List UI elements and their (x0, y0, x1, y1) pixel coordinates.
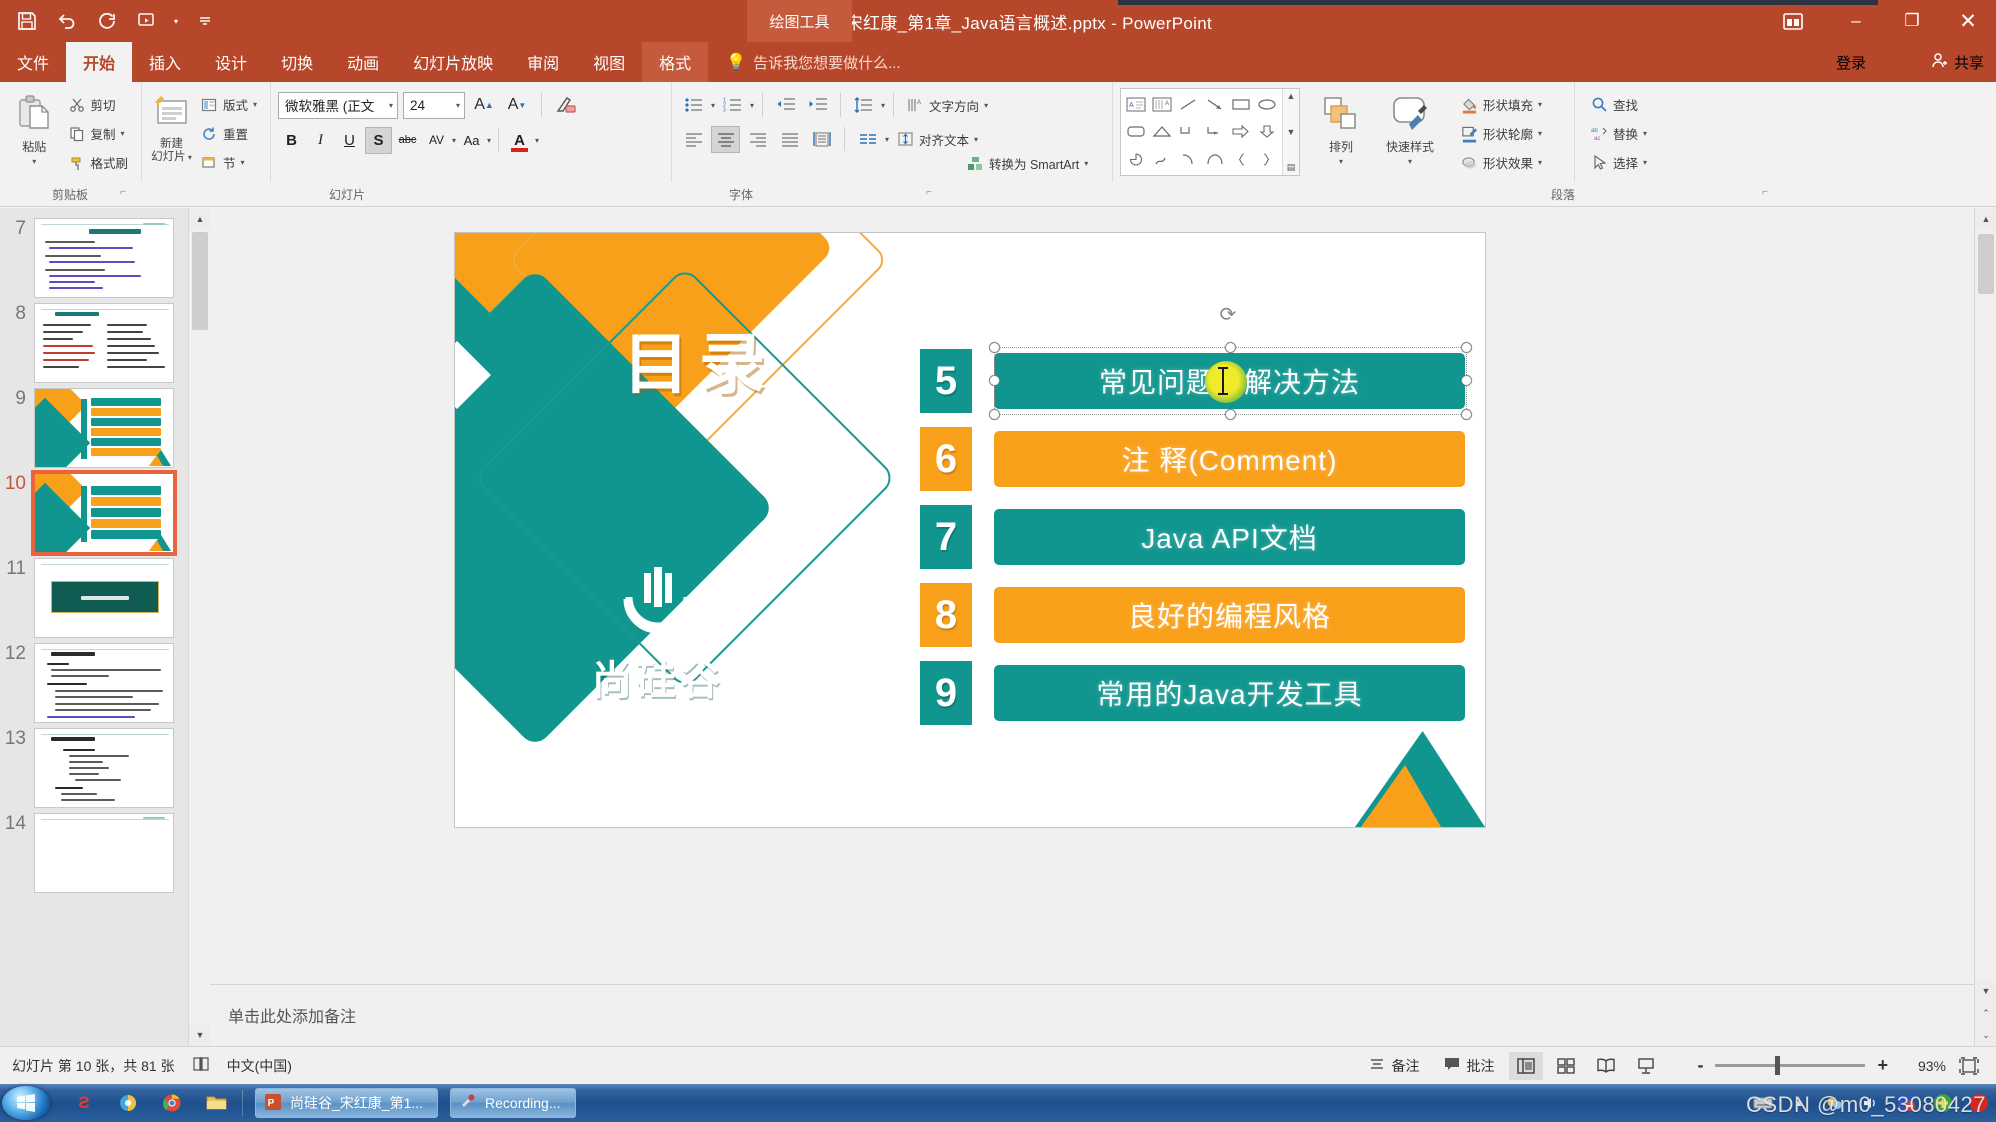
person-add-icon (1931, 52, 1948, 73)
smartart-caret-icon[interactable]: ▾ (1084, 159, 1088, 168)
redo-icon[interactable] (94, 8, 120, 34)
thumbnail-item-14[interactable]: 14 (0, 813, 188, 893)
format-painter-label: 格式刷 (90, 153, 128, 172)
new-slide-icon (152, 92, 190, 136)
shape-fill-icon (1461, 96, 1478, 113)
section-label: 节 (223, 153, 236, 172)
notes-placeholder[interactable]: 单击此处添加备注 (228, 1003, 356, 1027)
thumbnail-scroll-up-button[interactable]: ▲ (189, 208, 210, 230)
thumbnail-preview[interactable] (34, 303, 174, 383)
svg-text:ab: ab (1591, 128, 1598, 134)
minimize-button[interactable]: – (1828, 0, 1884, 42)
brand-logo-block: 尚硅谷 (573, 563, 743, 706)
record-stop-icon[interactable] (1968, 1092, 1990, 1114)
resize-handle-mr[interactable] (1461, 375, 1472, 386)
slide-canvas[interactable]: 目录 尚硅谷 5 (455, 233, 1485, 827)
font-name-input[interactable]: 微软雅黑 (正文 ▾ (278, 92, 398, 119)
line-spacing-icon[interactable] (849, 92, 878, 119)
tab-review[interactable]: 审阅 (510, 42, 576, 82)
section-caret-icon[interactable]: ▾ (240, 158, 244, 167)
select-button[interactable]: 选择 ▾ (1586, 149, 1652, 176)
lightbulb-icon: 💡 (726, 52, 746, 72)
resize-handle-ml[interactable] (989, 375, 1000, 386)
shape-scribble-icon[interactable] (1149, 146, 1175, 173)
window-controls[interactable]: – ❐ ✕ (1758, 0, 1996, 42)
slide-title: 目录 (623, 311, 775, 407)
shape-fill-label: 形状填充 (1483, 95, 1533, 114)
text-direction-button[interactable]: A 文字方向 ▾ (902, 92, 993, 119)
resize-handle-bc[interactable] (1225, 409, 1236, 420)
scroll-up-button[interactable]: ▲ (1975, 208, 1996, 230)
shape-elbow-arrow-icon[interactable] (1201, 118, 1227, 145)
tab-insert[interactable]: 插入 (132, 42, 198, 82)
shape-pie-icon[interactable] (1123, 146, 1149, 173)
thumbnail-preview-selected[interactable] (34, 473, 174, 553)
text-direction-caret-icon[interactable]: ▾ (984, 101, 988, 110)
shape-vertical-textbox-icon[interactable]: A (1149, 91, 1175, 118)
powerpoint-icon: P (264, 1093, 282, 1114)
underline-button[interactable]: U (336, 127, 363, 154)
customize-qat-icon[interactable] (192, 8, 218, 34)
save-icon[interactable] (14, 8, 40, 34)
fit-to-window-icon[interactable] (1952, 1052, 1986, 1080)
quick-styles-label: 快速样式 (1386, 138, 1434, 155)
shapes-more-icon[interactable]: ▤ (1287, 162, 1296, 173)
italic-button[interactable]: I (307, 127, 334, 154)
format-painter-icon (68, 154, 85, 171)
toc-bar[interactable]: 常用的Java开发工具 (994, 665, 1465, 721)
arrange-caret-icon[interactable]: ▾ (1339, 157, 1343, 166)
taskbar-item-powerpoint[interactable]: P 尚硅谷_宋红康_第1... (255, 1088, 438, 1118)
layout-button[interactable]: 版式 ▾ (196, 91, 262, 118)
replace-icon: abac (1591, 125, 1608, 142)
align-text-label: 对齐文本 (919, 130, 969, 149)
system-tray[interactable]: ▲ (1752, 1092, 1990, 1114)
distribute-columns-icon[interactable] (807, 126, 836, 153)
columns-caret-icon[interactable]: ▾ (885, 135, 889, 144)
status-bar[interactable]: 幻灯片 第 10 张，共 81 张 中文(中国) 备注 批注 (0, 1046, 1996, 1084)
slide-count-label: 幻灯片 第 10 张，共 81 张 (12, 1056, 175, 1076)
slide-edit-area[interactable]: 目录 尚硅谷 5 (210, 208, 1974, 1046)
recorder-icon (459, 1093, 477, 1114)
change-case-caret-icon[interactable]: ▾ (487, 136, 491, 145)
shape-right-arrow-icon[interactable] (1228, 118, 1254, 145)
arrange-icon (1321, 92, 1361, 136)
thumbnail-scroll-thumb[interactable] (192, 232, 208, 330)
notes-pane[interactable]: 单击此处添加备注 (210, 984, 1974, 1046)
ribbon-group-font: 微软雅黑 (正文 ▾ 24 ▾ A▲ A▼ B I U S abc (270, 82, 670, 182)
layout-icon (201, 96, 218, 113)
cursor-select-icon (1591, 154, 1608, 171)
scroll-down-button[interactable]: ▼ (1975, 980, 1996, 1002)
thumbnail-number: 8 (0, 303, 34, 325)
thumbnail-preview[interactable] (34, 218, 174, 298)
undo-icon[interactable] (54, 8, 80, 34)
font-size-caret-icon[interactable]: ▾ (456, 101, 460, 110)
svg-text:3: 3 (723, 108, 726, 114)
ribbon-display-options-icon[interactable] (1758, 0, 1828, 42)
quick-styles-caret-icon[interactable]: ▾ (1408, 157, 1412, 166)
thumbnail-item-9[interactable]: 9 (0, 388, 188, 468)
shapes-scroll-down-icon[interactable]: ▼ (1287, 127, 1296, 137)
quick-styles-icon (1388, 92, 1432, 136)
paragraph-dialog-launcher[interactable]: ⌐ (1762, 187, 1768, 198)
arrange-button[interactable]: 排列 ▾ (1310, 88, 1372, 166)
paste-button[interactable]: 粘贴 ▾ (7, 88, 61, 166)
toc-row-9[interactable]: 9 常用的Java开发工具 (920, 657, 1465, 729)
thumbnail-item-7[interactable]: 7 (0, 218, 188, 298)
next-slide-button[interactable]: ⌄ (1975, 1024, 1996, 1046)
ribbon-group-clipboard: 粘贴 ▾ 剪切 复制 ▾ (0, 82, 140, 182)
tab-file[interactable]: 文件 (0, 42, 66, 82)
tab-view[interactable]: 视图 (576, 42, 642, 82)
copy-caret-icon[interactable]: ▾ (121, 129, 125, 138)
quick-launch-bar[interactable]: Ƨ (50, 1091, 228, 1115)
spellcheck-icon[interactable] (191, 1056, 211, 1075)
increase-font-size-button[interactable]: A▲ (470, 92, 498, 119)
toc-bar[interactable]: Java API文档 (994, 509, 1465, 565)
reading-view-icon[interactable] (1589, 1052, 1623, 1080)
shapes-scroll-up-icon[interactable]: ▲ (1287, 91, 1296, 101)
zoom-slider[interactable] (1715, 1064, 1865, 1067)
tab-home[interactable]: 开始 (66, 42, 132, 82)
start-orb-icon[interactable] (2, 1086, 50, 1120)
shape-effects-icon (1461, 154, 1478, 171)
text-direction-label: 文字方向 (929, 96, 979, 115)
thumbnail-number: 7 (0, 218, 34, 240)
keyboard-icon[interactable] (1752, 1092, 1774, 1114)
search-icon (1591, 96, 1608, 113)
text-direction-icon: A (907, 97, 924, 114)
toc-row-5[interactable]: 5 常见问题及解决方法 ⟳ (920, 345, 1465, 417)
ribbon-group-paragraph: ▾ 123 ▾ ▾ (671, 82, 1111, 182)
shape-effects-caret-icon[interactable]: ▾ (1538, 158, 1542, 167)
slide-vertical-scrollbar[interactable]: ▲ ▼ ⌃ ⌄ (1974, 208, 1996, 1046)
svg-text:A: A (917, 100, 921, 106)
reset-label: 重置 (223, 124, 248, 143)
thumbnail-preview[interactable] (34, 643, 174, 723)
volume-icon[interactable] (1860, 1092, 1882, 1114)
replace-button[interactable]: abac 替换 ▾ (1586, 120, 1652, 147)
app1-icon[interactable] (1896, 1092, 1918, 1114)
shangguigu-logo-icon (573, 563, 743, 644)
group-label-paragraph: 段落 (1343, 182, 1783, 207)
shape-curve-icon[interactable] (1175, 146, 1201, 173)
svg-text:P: P (268, 1098, 275, 1109)
shape-rounded-rectangle-icon[interactable] (1123, 118, 1149, 145)
qat-dropdown-caret[interactable]: ▾ (174, 17, 178, 26)
font-color-button[interactable]: A (506, 127, 533, 154)
toc-row-7[interactable]: 7 Java API文档 (920, 501, 1465, 573)
group-label-clipboard: 剪贴板 (0, 182, 140, 207)
tab-design[interactable]: 设计 (198, 42, 264, 82)
shape-arc-icon[interactable] (1201, 146, 1227, 173)
quick-access-toolbar[interactable]: ▾ (14, 0, 218, 42)
align-left-icon[interactable] (679, 126, 708, 153)
thumbnail-number: 14 (0, 813, 34, 835)
taskbar-item-label: Recording... (485, 1095, 560, 1111)
shape-fill-button[interactable]: 形状填充 ▾ (1456, 91, 1547, 118)
text-cursor-icon (1222, 367, 1224, 395)
slideshow-icon[interactable] (1629, 1052, 1663, 1080)
arrange-label: 排列 (1329, 138, 1353, 155)
share-label: 共享 (1954, 52, 1984, 73)
taskbar[interactable]: Ƨ P 尚硅谷_宋红康_第1... Recording... (0, 1084, 1996, 1122)
font-name-value: 微软雅黑 (正文 (285, 95, 374, 115)
thumbnail-preview[interactable] (34, 728, 174, 808)
resize-handle-bl[interactable] (989, 409, 1000, 420)
toc-row-6[interactable]: 6 注 释(Comment) (920, 423, 1465, 495)
align-text-caret-icon[interactable]: ▾ (974, 135, 978, 144)
tell-me-search[interactable]: 💡 告诉我您想要做什么... (708, 42, 900, 82)
font-dialog-launcher[interactable]: ⌐ (926, 187, 932, 198)
shape-arrow-icon[interactable] (1201, 91, 1227, 118)
toc-row-8[interactable]: 8 良好的编程风格 (920, 579, 1465, 651)
shape-oval-icon[interactable] (1254, 91, 1280, 118)
change-case-button[interactable]: Aa (458, 127, 485, 154)
browser-icon[interactable] (116, 1091, 140, 1115)
thumbnail-scroll-down-button[interactable]: ▼ (189, 1024, 210, 1046)
show-hidden-icons-icon[interactable]: ▲ (1788, 1092, 1810, 1114)
resize-handle-tl[interactable] (989, 342, 1000, 353)
font-color-caret-icon[interactable]: ▾ (535, 136, 539, 145)
format-painter-button[interactable]: 格式刷 (63, 149, 133, 176)
chrome-icon[interactable] (160, 1091, 184, 1115)
align-right-icon[interactable] (743, 126, 772, 153)
notes-label: 备注 (1391, 1056, 1419, 1076)
section-icon (201, 154, 218, 171)
shape-outline-icon (1461, 125, 1478, 142)
shape-outline-button[interactable]: 形状轮廓 ▾ (1456, 120, 1547, 147)
contextual-tab-group-label: 绘图工具 (747, 0, 852, 42)
quick-styles-button[interactable]: 快速样式 ▾ (1372, 88, 1448, 166)
copy-label: 复制 (90, 124, 115, 143)
toc-number: 6 (920, 427, 972, 491)
paste-icon (16, 92, 52, 136)
toc-number: 8 (920, 583, 972, 647)
zoom-in-button[interactable]: + (1871, 1055, 1894, 1076)
shape-outline-label: 形状轮廓 (1483, 124, 1533, 143)
shapes-gallery[interactable]: A A (1120, 88, 1300, 176)
resize-handle-br[interactable] (1461, 409, 1472, 420)
thumbnail-item-10[interactable]: 10 (0, 473, 188, 553)
font-size-input[interactable]: 24 ▾ (403, 92, 465, 119)
shapes-gallery-scrollbar[interactable]: ▲ ▼ ▤ (1282, 89, 1299, 175)
replace-caret-icon[interactable]: ▾ (1643, 129, 1647, 138)
shape-rectangle-icon[interactable] (1228, 91, 1254, 118)
smartart-icon (967, 155, 984, 172)
find-button[interactable]: 查找 (1586, 91, 1652, 118)
bold-button[interactable]: B (278, 127, 305, 154)
align-text-icon (897, 131, 914, 148)
convert-smartart-label: 转换为 SmartArt (989, 154, 1079, 173)
window-title: 尚硅谷_宋红康_第1章_Java语言概述.pptx - PowerPoint (0, 0, 1996, 42)
ribbon-group-editing: 查找 abac 替换 ▾ 选择 ▾ 编辑 (1574, 82, 1754, 182)
cut-button[interactable]: 剪切 (63, 91, 133, 118)
thumbnail-preview[interactable] (34, 813, 174, 893)
numbering-icon[interactable]: 123 (718, 92, 747, 119)
replace-label: 替换 (1613, 124, 1638, 143)
thumbnail-item-13[interactable]: 13 (0, 728, 188, 808)
ribbon-tabs[interactable]: 文件 开始 插入 设计 切换 动画 幻灯片放映 审阅 视图 格式 💡 告诉我您想… (0, 42, 1996, 82)
resize-handle-tr[interactable] (1461, 342, 1472, 353)
convert-smartart-button[interactable]: 转换为 SmartArt ▾ (962, 150, 1093, 177)
group-label-font: 字体 (541, 182, 941, 207)
shape-elbow-connector-icon[interactable] (1175, 118, 1201, 145)
zoom-level-label: 93% (1900, 1058, 1946, 1074)
restore-button[interactable]: ❐ (1884, 0, 1940, 42)
shape-textbox-icon[interactable]: A (1123, 91, 1149, 118)
thumbnail-scrollbar[interactable]: ▲ ▼ (188, 208, 210, 1046)
start-presentation-icon[interactable] (134, 8, 160, 34)
network-icon[interactable] (1824, 1092, 1846, 1114)
shape-left-brace-icon[interactable] (1228, 146, 1254, 173)
shape-effects-label: 形状效果 (1483, 153, 1533, 172)
thumbnail-number: 10 (0, 473, 34, 495)
ribbon-group-drawing: A A (1112, 82, 1572, 182)
layout-caret-icon[interactable]: ▾ (253, 100, 257, 109)
thumbnail-preview[interactable] (34, 388, 174, 468)
character-spacing-caret-icon[interactable]: ▾ (452, 136, 456, 145)
thumbnail-item-11[interactable]: 11 (0, 558, 188, 638)
sogou-icon[interactable]: Ƨ (72, 1091, 96, 1115)
new-slide-label-1: 新建 (160, 138, 183, 150)
language-label[interactable]: 中文(中国) (227, 1056, 292, 1076)
clear-formatting-icon[interactable] (552, 92, 580, 119)
increase-indent-icon[interactable] (803, 92, 832, 119)
character-spacing-button[interactable]: AV (423, 127, 450, 154)
new-slide-button[interactable]: 新建 幻灯片 ▾ (149, 88, 194, 164)
text-shadow-button[interactable]: S (365, 127, 392, 154)
previous-slide-button[interactable]: ⌃ (1975, 1002, 1996, 1024)
taskbar-item-label: 尚硅谷_宋红康_第1... (290, 1093, 423, 1113)
clipboard-dialog-launcher[interactable]: ⌐ (120, 187, 126, 198)
taskbar-item-recording[interactable]: Recording... (450, 1088, 575, 1118)
shape-outline-caret-icon[interactable]: ▾ (1538, 129, 1542, 138)
comments-button[interactable]: 批注 (1434, 1052, 1503, 1080)
zoom-out-button[interactable]: - (1691, 1055, 1709, 1076)
new-slide-label-2: 幻灯片 (151, 151, 186, 163)
toc-list[interactable]: 5 常见问题及解决方法 ⟳ (920, 345, 1465, 735)
thumbnail-preview[interactable] (34, 558, 174, 638)
thumbnail-number: 9 (0, 388, 34, 410)
paste-caret-icon[interactable]: ▾ (32, 157, 36, 166)
scroll-thumb[interactable] (1978, 234, 1994, 294)
ribbon: 粘贴 ▾ 剪切 复制 ▾ (0, 82, 1996, 207)
scissors-icon (68, 96, 85, 113)
normal-view-icon[interactable] (1509, 1052, 1543, 1080)
align-text-button[interactable]: 对齐文本 ▾ (892, 126, 983, 153)
zoom-slider-handle[interactable] (1775, 1056, 1780, 1075)
justify-icon[interactable] (775, 126, 804, 153)
font-name-caret-icon[interactable]: ▾ (389, 101, 393, 110)
reset-icon (201, 125, 218, 142)
font-color-letter: A (514, 132, 525, 149)
bullets-caret-icon[interactable]: ▾ (711, 101, 715, 110)
shape-triangle-icon[interactable] (1149, 118, 1175, 145)
shape-line-icon[interactable] (1175, 91, 1201, 118)
reset-button[interactable]: 重置 (196, 120, 262, 147)
find-label: 查找 (1613, 95, 1638, 114)
ribbon-group-slides: 新建 幻灯片 ▾ 版式 ▾ 重置 (141, 82, 269, 182)
comment-icon (1443, 1056, 1461, 1075)
copy-button[interactable]: 复制 ▾ (63, 120, 133, 147)
shape-right-brace-icon[interactable] (1254, 146, 1280, 173)
thumbnail-number: 11 (0, 558, 34, 580)
thumbnail-number: 12 (0, 643, 34, 665)
tab-slideshow[interactable]: 幻灯片放映 (396, 42, 510, 82)
explorer-icon[interactable] (204, 1091, 228, 1115)
shape-effects-button[interactable]: 形状效果 ▾ (1456, 149, 1547, 176)
sign-in-button[interactable]: 登录 (1836, 42, 1866, 82)
svg-text:A: A (1129, 102, 1134, 109)
title-bar: ▾ 尚硅谷_宋红康_第1章_Java语言概述.pptx - PowerPoint… (0, 0, 1996, 42)
align-center-icon[interactable] (711, 126, 740, 153)
share-button[interactable]: 共享 (1931, 42, 1984, 82)
tell-me-label: 告诉我您想要做什么... (753, 52, 901, 73)
shape-fill-caret-icon[interactable]: ▾ (1538, 100, 1542, 109)
select-label: 选择 (1613, 153, 1638, 172)
bullets-icon[interactable] (679, 92, 708, 119)
toc-number: 9 (920, 661, 972, 725)
toc-bar[interactable]: 良好的编程风格 (994, 587, 1465, 643)
svg-text:ac: ac (1594, 136, 1600, 142)
notes-button[interactable]: 备注 (1359, 1052, 1428, 1080)
columns-icon[interactable] (853, 126, 882, 153)
toc-number: 7 (920, 505, 972, 569)
numbering-caret-icon[interactable]: ▾ (750, 101, 754, 110)
strikethrough-button[interactable]: abc (394, 127, 421, 154)
copy-icon (68, 125, 85, 142)
cut-label: 剪切 (90, 95, 115, 114)
comments-label: 批注 (1466, 1056, 1494, 1076)
tab-transitions[interactable]: 切换 (264, 42, 330, 82)
slide-sorter-icon[interactable] (1549, 1052, 1583, 1080)
thumbnail-item-12[interactable]: 12 (0, 643, 188, 723)
brand-name: 尚硅谷 (573, 648, 743, 706)
notes-icon (1368, 1056, 1386, 1075)
shape-down-arrow-icon[interactable] (1254, 118, 1280, 145)
section-button[interactable]: 节 ▾ (196, 149, 262, 176)
decrease-indent-icon[interactable] (771, 92, 800, 119)
rotate-handle-icon[interactable]: ⟳ (1220, 302, 1242, 324)
new-slide-caret-icon[interactable]: ▾ (186, 153, 192, 162)
paste-label: 粘贴 (22, 138, 46, 155)
close-button[interactable]: ✕ (1940, 0, 1996, 42)
slide-thumbnail-pane[interactable]: 7 8 (0, 208, 210, 1046)
svg-text:A: A (1165, 101, 1169, 107)
select-caret-icon[interactable]: ▾ (1643, 158, 1647, 167)
font-color-swatch (511, 148, 528, 152)
tab-animations[interactable]: 动画 (330, 42, 396, 82)
toc-number: 5 (920, 349, 972, 413)
char-spacing-label: AV (429, 135, 444, 145)
decrease-font-size-button[interactable]: A▼ (503, 92, 531, 119)
group-label-slides: 幻灯片 (283, 182, 411, 207)
tab-format[interactable]: 格式 (642, 42, 708, 82)
resize-handle-tc[interactable] (1225, 342, 1236, 353)
app2-icon[interactable] (1932, 1092, 1954, 1114)
thumbnail-item-8[interactable]: 8 (0, 303, 188, 383)
font-size-value: 24 (410, 98, 425, 113)
thumbnail-number: 13 (0, 728, 34, 750)
toc-bar[interactable]: 注 释(Comment) (994, 431, 1465, 487)
line-spacing-caret-icon[interactable]: ▾ (881, 101, 885, 110)
layout-label: 版式 (223, 95, 248, 114)
